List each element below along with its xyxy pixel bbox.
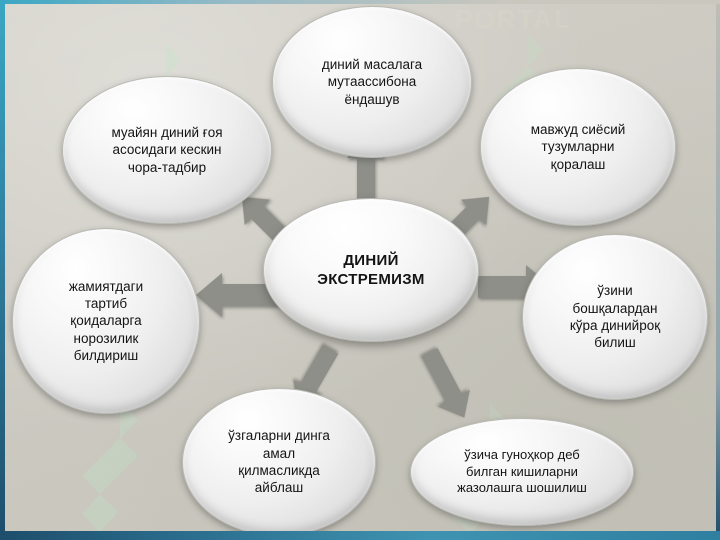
node-left[interactable]: жамиятдаги тартиб қоидаларга норозилик б…	[12, 228, 200, 414]
node-center-label: ДИНИЙ ЭКСТРЕМИЗМ	[317, 251, 424, 289]
node-top[interactable]: диний масалага мутаассибона ёндашув	[272, 6, 472, 158]
node-top-right[interactable]: мавжуд сиёсий тузумларни қоралаш	[480, 68, 676, 226]
node-bottom-left-label: ўзгаларни динга амал қилмасликда айблаш	[228, 427, 330, 496]
slide-canvas: PORTAL	[0, 0, 720, 540]
node-bottom-right-label: ўзича гуноҳкор деб билган кишиларни жазо…	[457, 447, 587, 497]
node-center[interactable]: ДИНИЙ ЭКСТРЕМИЗМ	[263, 198, 479, 342]
node-top-right-label: мавжуд сиёсий тузумларни қоралаш	[531, 121, 626, 173]
node-top-left-label: муайян диний ғоя асосидаги кескин чора-т…	[111, 124, 222, 176]
node-bottom-left[interactable]: ўзгаларни динга амал қилмасликда айблаш	[182, 388, 376, 536]
node-top-label: диний масалага мутаассибона ёндашув	[322, 56, 422, 108]
node-right-label: ўзини бошқалардан кўра динийроқ билиш	[570, 282, 660, 351]
node-bottom-right[interactable]: ўзича гуноҳкор деб билган кишиларни жазо…	[410, 418, 634, 526]
node-top-left[interactable]: муайян диний ғоя асосидаги кескин чора-т…	[62, 76, 272, 224]
node-left-label: жамиятдаги тартиб қоидаларга норозилик б…	[69, 278, 143, 364]
node-right[interactable]: ўзини бошқалардан кўра динийроқ билиш	[522, 234, 708, 400]
